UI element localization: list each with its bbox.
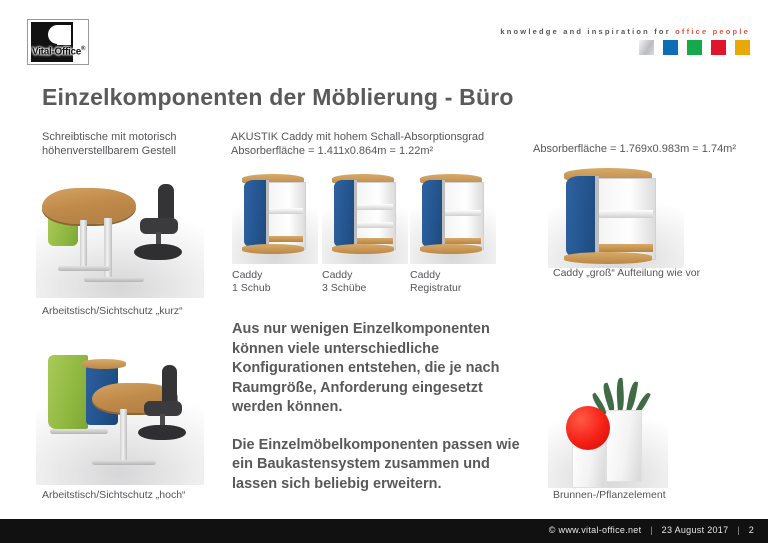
tagline-accent-text: office people [675,27,750,36]
image-brunnen-pflanzelement [548,372,668,488]
left-heading-line2: höhenverstellbarem Gestell [42,145,176,159]
image-caddy-3-schuebe [322,164,408,264]
caddy-shelf-upper [269,208,303,214]
footer-separator-1: | [644,525,659,535]
page-title: Einzelkomponenten der Möblierung - Büro [42,84,514,111]
caddy-base-wood [564,252,652,264]
pedestal-plant [606,410,642,482]
desk-leg-center [120,409,127,463]
caddy-edge-strip [354,180,357,248]
caddy-top-wood [82,359,126,369]
image-desk-tall-screen [36,343,204,485]
caddy-base-wood [242,244,304,254]
logo-registered-mark: ® [81,46,85,52]
caddy-edge-strip [442,180,445,248]
caddy-shelf-middle [357,222,393,228]
akustik-caddy-heading-rest: mit hohem Schall-Absorptionsgrad [313,131,484,143]
caddy-label-3: Caddy Registratur [410,269,461,295]
caddy-edge-strip [266,180,269,248]
caddy-base-wood [332,244,394,254]
logo-wordmark-text: Vital-Office [32,46,81,57]
caddy-label-1: Caddy 1 Schub [232,269,271,295]
caption-caddy-gross: Caddy „groß“ Aufteilung wie vor [553,267,700,280]
slide-canvas: Vital-Office® knowledge and inspiration … [0,0,768,543]
body-paragraph-2: Die Einzelmöbelkomponenten passen wie ei… [232,436,524,495]
image-caddy-1-schub [232,164,318,264]
chair-base-star [138,425,186,440]
caddy-acoustic-panel-blue [422,180,444,248]
image-caddy-registratur [410,164,496,264]
desk-leg-left [80,220,87,270]
swatch-blue [663,40,678,55]
caddy-shelf-upper [599,210,653,218]
caption-desk-short: Arbeitstisch/Sichtschutz „kurz“ [42,305,183,318]
caddy-label-3-line1: Caddy [410,269,461,282]
swatch-red [711,40,726,55]
swatch-yellow [735,40,750,55]
absorber-area-middle: Absorberfläche = 1.411x0.864m = 1.22m² [231,145,433,159]
caddy-shelf-upper [445,210,481,216]
vital-office-logo: Vital-Office® [27,19,89,65]
akustik-caddy-heading-bold: AKUSTIK Caddy [231,131,313,143]
caption-desk-tall: Arbeitstisch/Sichtschutz „hoch“ [42,489,186,502]
caddy-acoustic-panel-blue [334,180,356,248]
header-tagline: knowledge and inspiration for office peo… [500,27,750,36]
caddy-label-1-line1: Caddy [232,269,271,282]
body-copy: Aus nur wenigen Einzelkomponenten können… [232,320,524,494]
logo-hole-shape [48,25,67,44]
caddy-label-3-line2: Registratur [410,282,461,295]
caddy-label-2-line2: 3 Schübe [322,282,366,295]
caption-brunnen-pflanzelement: Brunnen-/Pflanzelement [553,489,666,502]
caddy-edge-strip [595,176,599,258]
slide-footer: © www.vital-office.net | 23 August 2017 … [0,519,768,543]
desk-foot-front [92,460,156,465]
logo-wordmark: Vital-Office® [32,46,85,57]
akustik-caddy-heading: AKUSTIK Caddy mit hohem Schall-Absorptio… [231,131,484,145]
caddy-base-wood [420,244,482,254]
footer-date: 23 August 2017 [662,525,729,535]
chair-base-star [134,244,182,260]
desk-foot-panel [50,429,108,434]
image-caddy-gross [548,160,684,268]
slide-header: Vital-Office® knowledge and inspiration … [0,0,768,68]
swatch-green [687,40,702,55]
fountain-sphere-red [566,406,610,450]
desk-foot-left [58,266,110,271]
caddy-acoustic-panel-blue [244,180,268,248]
caddy-shelf-lower-wood [599,244,653,252]
caddy-label-2-line1: Caddy [322,269,366,282]
footer-website-link[interactable]: www.vital-office.net [559,525,642,535]
desk-foot-right [84,277,144,282]
left-heading-line1: Schreibtische mit motorisch [42,131,177,145]
desk-worktop-wood [42,188,136,224]
footer-separator-2: | [731,525,746,535]
footer-page-number: 2 [749,525,754,535]
caddy-acoustic-panel-blue [566,176,598,258]
body-paragraph-1: Aus nur wenigen Einzelkomponenten können… [232,320,524,418]
caddy-label-1-line2: 1 Schub [232,282,271,295]
footer-meta: © www.vital-office.net | 23 August 2017 … [549,525,754,535]
caddy-shelf-upper [357,204,393,210]
absorber-area-right: Absorberfläche = 1.769x0.983m = 1.74m² [533,143,736,157]
image-desk-short-screen [36,166,204,298]
brand-swatch-row [639,40,750,55]
swatch-silver [639,40,654,55]
caddy-shelf-lower-wood [269,236,303,242]
tagline-main-text: knowledge and inspiration for [500,27,670,36]
caddy-label-2: Caddy 3 Schübe [322,269,366,295]
footer-copyright-icon: © [549,525,556,535]
